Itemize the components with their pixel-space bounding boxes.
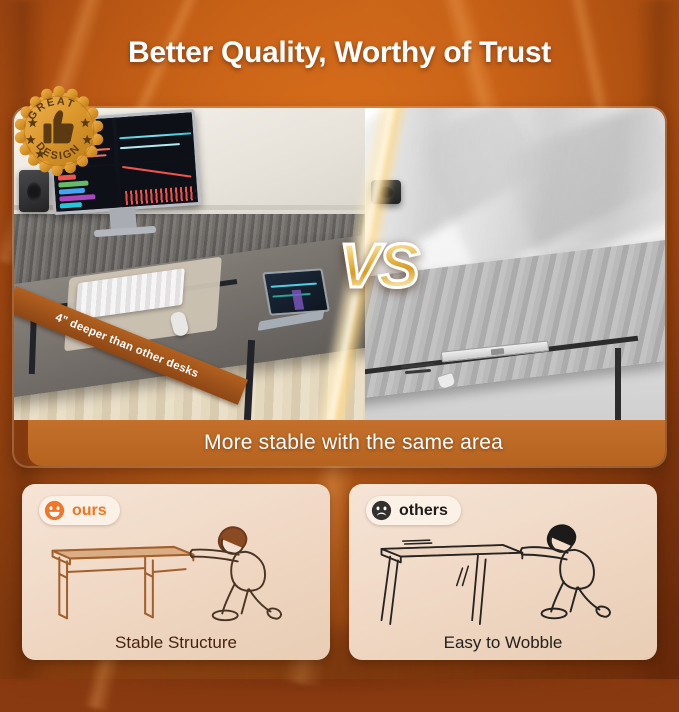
great-design-badge: GREAT DESIGN <box>12 84 106 178</box>
others-caption: Easy to Wobble <box>349 633 657 653</box>
hero-caption: More stable with the same area <box>204 431 503 455</box>
comparison-cards: ours <box>22 484 657 660</box>
card-ours: ours <box>22 484 330 660</box>
others-pill-label: others <box>399 502 448 520</box>
others-illustration <box>349 518 657 626</box>
page-title: Better Quality, Worthy of Trust <box>0 36 679 70</box>
ours-pill-label: ours <box>72 502 107 520</box>
card-others: others <box>349 484 657 660</box>
hero-caption-bar: More stable with the same area <box>28 420 665 466</box>
laptop-screen <box>262 268 330 316</box>
ours-illustration <box>22 518 330 626</box>
ours-caption: Stable Structure <box>22 633 330 653</box>
vs-badge: VS <box>339 236 418 298</box>
